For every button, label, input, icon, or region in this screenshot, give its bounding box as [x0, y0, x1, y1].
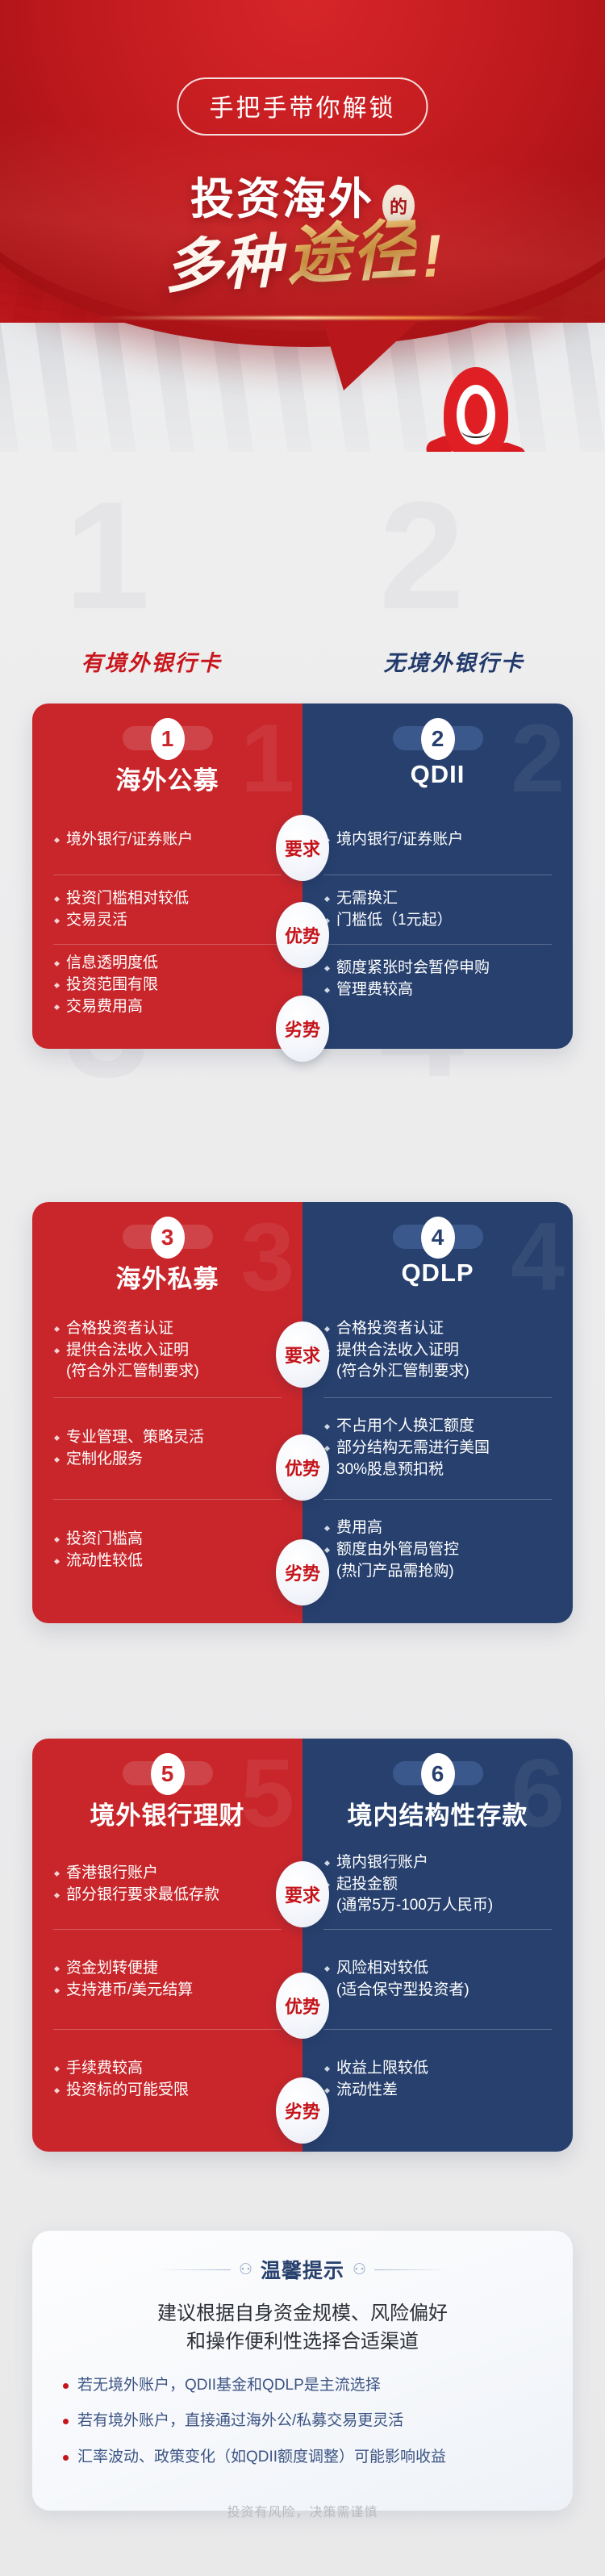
- card-number-badge: 6: [421, 1753, 455, 1795]
- list-item: 定制化服务: [55, 1449, 204, 1471]
- hero-title-sub: 多种 途径 !: [161, 196, 444, 304]
- card-title: QDII: [323, 760, 552, 789]
- list-item: 不占用个人换汇额度: [325, 1416, 490, 1438]
- row-advantage: 风险相对较低 (适合保守型投资者): [323, 1929, 552, 2029]
- row-requirement: 香港银行账户 部分银行要求最低存款: [53, 1840, 282, 1929]
- pill-advantage: 优势: [276, 902, 329, 968]
- list-item: 提供合法收入证明: [55, 1340, 199, 1362]
- card-4[interactable]: 4 4 QDLP 合格投资者认证 提供合法收入证明 (符合外汇管制要求): [302, 1202, 573, 1623]
- disadvantage-list: 额度紧张时会暂停申购 管理费较高: [325, 958, 490, 1001]
- hero-title-exclamation: !: [420, 221, 444, 290]
- list-item: 手续费较高: [55, 2058, 189, 2080]
- list-item: 投资门槛相对较低: [55, 888, 189, 910]
- advantage-list: 投资门槛相对较低 交易灵活: [55, 888, 189, 932]
- tips-divider-left: [158, 2269, 231, 2270]
- row-advantage: 资金划转便捷 支持港币/美元结算: [53, 1929, 282, 2029]
- list-item: (适合保守型投资者): [325, 1980, 469, 2002]
- row-disadvantage: 手续费较高 投资标的可能受限: [53, 2029, 282, 2129]
- tips-lead: 建议根据自身资金规模、风险偏好 和操作便利性选择合适渠道: [61, 2300, 544, 2357]
- list-item: (通常5万-100万人民币): [325, 1895, 493, 1917]
- column-header-left: 有境外银行卡: [0, 645, 302, 677]
- list-item: 无需换汇: [325, 888, 453, 910]
- list-item: 起投金额: [325, 1874, 493, 1896]
- card-2[interactable]: 2 2 QDII 境内银行/证券账户 无需换汇 门槛低（: [302, 703, 573, 1049]
- watermark-numeral: 2: [379, 468, 465, 644]
- list-item: (符合外汇管制要求): [325, 1361, 469, 1383]
- list-item: 若无境外账户，QDII基金和QDLP是主流选择: [61, 2374, 544, 2398]
- column-headers: 有境外银行卡 无境外银行卡: [0, 645, 605, 677]
- requirement-list: 境外银行/证券账户: [55, 829, 193, 851]
- list-item: 管理费较高: [325, 979, 490, 1001]
- row-requirement: 合格投资者认证 提供合法收入证明 (符合外汇管制要求): [53, 1304, 282, 1397]
- pill-disadvantage: 劣势: [276, 1539, 329, 1605]
- tips-title: 温馨提示: [261, 2255, 344, 2284]
- disadvantage-list: 收益上限较低 流动性差: [325, 2058, 428, 2102]
- card-1[interactable]: 1 1 海外公募 境外银行/证券账户 投资门槛相对较低: [32, 703, 302, 1049]
- card-title: QDLP: [323, 1259, 552, 1288]
- card-rows: 境外银行/证券账户 投资门槛相对较低 交易灵活 信息透明度低 投资范围有限: [53, 805, 282, 1026]
- list-item: 境内银行账户: [325, 1852, 493, 1874]
- card-number-badge: 4: [421, 1217, 455, 1259]
- mascot-character: [419, 367, 532, 452]
- requirement-list: 合格投资者认证 提供合法收入证明 (符合外汇管制要求): [55, 1318, 199, 1384]
- advantage-list: 资金划转便捷 支持港币/美元结算: [55, 1958, 193, 2002]
- pill-requirement: 要求: [276, 1321, 329, 1388]
- list-item: 专业管理、策略灵活: [55, 1427, 204, 1449]
- row-requirement: 境内银行/证券账户: [323, 805, 552, 875]
- hero-gold-streak: [97, 316, 549, 319]
- list-item: 流动性较低: [55, 1551, 143, 1572]
- list-item: 支持港币/美元结算: [55, 1980, 193, 2002]
- row-advantage: 投资门槛相对较低 交易灵活: [53, 875, 282, 944]
- row-disadvantage: 额度紧张时会暂停申购 管理费较高: [323, 944, 552, 1013]
- list-item: 门槛低（1元起）: [325, 910, 453, 932]
- pill-advantage: 优势: [276, 1434, 329, 1501]
- row-disadvantage: 费用高 额度由外管局管控 (热门产品需抢购): [323, 1499, 552, 1601]
- list-item: 合格投资者认证: [325, 1318, 469, 1340]
- card-rows: 合格投资者认证 提供合法收入证明 (符合外汇管制要求) 专业管理、策略灵活 定制…: [53, 1304, 282, 1601]
- list-item: 境外银行/证券账户: [55, 829, 193, 851]
- card-title: 境外银行理财: [53, 1795, 282, 1831]
- card-5[interactable]: 5 5 境外银行理财 香港银行账户 部分银行要求最低存款: [32, 1739, 302, 2152]
- column-header-right: 无境外银行卡: [302, 645, 605, 677]
- bell-icon: ⚇: [353, 2261, 366, 2279]
- disadvantage-list: 投资门槛高 流动性较低: [55, 1529, 143, 1572]
- card-number-badge: 3: [151, 1217, 185, 1259]
- pill-requirement: 要求: [276, 1861, 329, 1927]
- advantage-list: 无需换汇 门槛低（1元起）: [325, 888, 453, 932]
- tips-box: ⚇ 温馨提示 ⚇ 建议根据自身资金规模、风险偏好 和操作便利性选择合适渠道 若无…: [32, 2231, 573, 2511]
- hero-title-line2-white: 多种: [161, 213, 283, 303]
- requirement-list: 境内银行账户 起投金额 (通常5万-100万人民币): [325, 1852, 493, 1918]
- row-requirement: 境外银行/证券账户: [53, 805, 282, 875]
- card-number-badge: 1: [151, 718, 185, 760]
- list-item: 交易灵活: [55, 910, 189, 932]
- requirement-list: 境内银行/证券账户: [325, 829, 463, 851]
- card-rows: 境内银行/证券账户 无需换汇 门槛低（1元起） 额度紧张时会暂停申购 管理费较高: [323, 805, 552, 1013]
- tips-lead-line1: 建议根据自身资金规模、风险偏好: [61, 2300, 544, 2328]
- card-3[interactable]: 3 3 海外私募 合格投资者认证 提供合法收入证明 (符合外汇管制要求): [32, 1202, 302, 1623]
- list-item: 部分结构无需进行美国: [325, 1438, 490, 1459]
- list-item: 合格投资者认证: [55, 1318, 199, 1340]
- card-title: 海外公募: [53, 760, 282, 796]
- list-item: 汇率波动、政策变化（如QDII额度调整）可能影响收益: [61, 2446, 544, 2470]
- pill-disadvantage: 劣势: [276, 996, 329, 1062]
- list-item: 额度由外管局管控: [325, 1539, 459, 1561]
- card-group-3: 5 5 境外银行理财 香港银行账户 部分银行要求最低存款: [32, 1739, 573, 2152]
- card-rows: 香港银行账户 部分银行要求最低存款 资金划转便捷 支持港币/美元结算 手续费较高: [53, 1840, 282, 2129]
- list-item: 信息透明度低: [55, 953, 158, 975]
- list-item: 投资门槛高: [55, 1529, 143, 1551]
- disadvantage-list: 手续费较高 投资标的可能受限: [55, 2058, 189, 2102]
- list-item: 香港银行账户: [55, 1863, 219, 1885]
- card-title: 境内结构性存款: [323, 1795, 552, 1831]
- card-header: 4 QDLP: [323, 1220, 552, 1291]
- row-requirement: 合格投资者认证 提供合法收入证明 (符合外汇管制要求): [323, 1304, 552, 1397]
- pill-advantage: 优势: [276, 1973, 329, 2039]
- card-6[interactable]: 6 6 境内结构性存款 境内银行账户 起投金额 (通常5万-100万人民币): [302, 1739, 573, 2152]
- row-advantage: 专业管理、策略灵活 定制化服务: [53, 1397, 282, 1499]
- list-item: 费用高: [325, 1518, 459, 1539]
- card-header: 2 QDII: [323, 721, 552, 792]
- card-group-1: 1 1 海外公募 境外银行/证券账户 投资门槛相对较低: [32, 703, 573, 1049]
- list-item: 部分银行要求最低存款: [55, 1885, 219, 1906]
- card-title: 海外私募: [53, 1259, 282, 1295]
- tips-list: 若无境外账户，QDII基金和QDLP是主流选择 若有境外账户，直接通过海外公/私…: [61, 2374, 544, 2470]
- list-item: 若有境外账户，直接通过海外公/私募交易更灵活: [61, 2410, 544, 2433]
- list-item: 收益上限较低: [325, 2058, 428, 2080]
- bell-icon: ⚇: [239, 2261, 252, 2279]
- tips-header: ⚇ 温馨提示 ⚇: [61, 2255, 544, 2284]
- card-header: 6 境内结构性存款: [323, 1756, 552, 1827]
- requirement-list: 合格投资者认证 提供合法收入证明 (符合外汇管制要求): [325, 1318, 469, 1384]
- disadvantage-list: 信息透明度低 投资范围有限 交易费用高: [55, 953, 158, 1018]
- tips-lead-line2: 和操作便利性选择合适渠道: [61, 2328, 544, 2357]
- watermark-numeral: 1: [65, 468, 150, 644]
- row-disadvantage: 收益上限较低 流动性差: [323, 2029, 552, 2129]
- footer-disclaimer: 投资有风险，决策需谨慎: [0, 2501, 605, 2520]
- list-item: 交易费用高: [55, 996, 158, 1018]
- tips-divider-right: [374, 2269, 447, 2270]
- row-requirement: 境内银行账户 起投金额 (通常5万-100万人民币): [323, 1840, 552, 1929]
- list-item: 投资标的可能受限: [55, 2080, 189, 2102]
- card-rows: 境内银行账户 起投金额 (通常5万-100万人民币) 风险相对较低 (适合保守型…: [323, 1840, 552, 2129]
- requirement-list: 香港银行账户 部分银行要求最低存款: [55, 1863, 219, 1906]
- list-item: 资金划转便捷: [55, 1958, 193, 1980]
- disadvantage-list: 费用高 额度由外管局管控 (热门产品需抢购): [325, 1518, 459, 1583]
- list-item: (符合外汇管制要求): [55, 1361, 199, 1383]
- list-item: 30%股息预扣税: [325, 1459, 490, 1481]
- advantage-list: 不占用个人换汇额度 部分结构无需进行美国 30%股息预扣税: [325, 1416, 490, 1481]
- advantage-list: 风险相对较低 (适合保守型投资者): [325, 1958, 469, 2002]
- hero-badge: 手把手带你解锁: [177, 77, 428, 136]
- advantage-list: 专业管理、策略灵活 定制化服务: [55, 1427, 204, 1471]
- card-group-2: 3 3 海外私募 合格投资者认证 提供合法收入证明 (符合外汇管制要求): [32, 1202, 573, 1623]
- card-number-badge: 5: [151, 1753, 185, 1795]
- row-advantage: 无需换汇 门槛低（1元起）: [323, 875, 552, 944]
- pill-disadvantage: 劣势: [276, 2077, 329, 2144]
- list-item: 投资范围有限: [55, 975, 158, 996]
- card-header: 5 境外银行理财: [53, 1756, 282, 1827]
- hero-title-line2-gold: 途径: [284, 198, 419, 298]
- row-disadvantage: 信息透明度低 投资范围有限 交易费用高: [53, 944, 282, 1026]
- hero-bubble-tail: [323, 321, 418, 390]
- card-number-badge: 2: [421, 718, 455, 760]
- list-item: 风险相对较低: [325, 1958, 469, 1980]
- list-item: 境内银行/证券账户: [325, 829, 463, 851]
- list-item: (热门产品需抢购): [325, 1561, 459, 1583]
- mascot-smile: [461, 424, 490, 438]
- infographic-page: 手把手带你解锁 投资海外 的 多种 途径 ! 1 2 3 4 5 6: [0, 0, 605, 2576]
- hero-banner: 手把手带你解锁 投资海外 的 多种 途径 !: [0, 0, 605, 452]
- list-item: 提供合法收入证明: [325, 1340, 469, 1362]
- card-header: 1 海外公募: [53, 721, 282, 792]
- card-rows: 合格投资者认证 提供合法收入证明 (符合外汇管制要求) 不占用个人换汇额度 部分…: [323, 1304, 552, 1601]
- row-disadvantage: 投资门槛高 流动性较低: [53, 1499, 282, 1601]
- list-item: 额度紧张时会暂停申购: [325, 958, 490, 979]
- row-advantage: 不占用个人换汇额度 部分结构无需进行美国 30%股息预扣税: [323, 1397, 552, 1499]
- pill-requirement: 要求: [276, 815, 329, 881]
- list-item: 流动性差: [325, 2080, 428, 2102]
- card-header: 3 海外私募: [53, 1220, 282, 1291]
